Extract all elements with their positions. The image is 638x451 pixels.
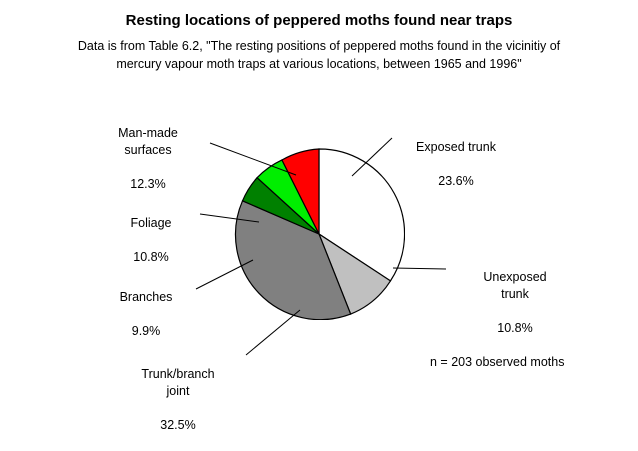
pie-label-foliage-value: 10.8% [96, 249, 206, 266]
pie-chart-area: Man-made surfaces 12.3% Foliage 10.8% Br… [0, 0, 638, 420]
pie-label-branches: Branches 9.9% [86, 272, 206, 357]
leader-line-trunk-joint [246, 310, 300, 355]
leader-line-unexposed-trunk [393, 268, 446, 269]
pie-label-exposed-trunk: Exposed trunk 23.6% [386, 122, 526, 207]
pie-label-man-made-surfaces: Man-made surfaces 12.3% [88, 108, 208, 210]
pie-label-unexposed-trunk: Unexposed trunk 10.8% [450, 252, 580, 354]
pie-label-foliage: Foliage 10.8% [96, 198, 206, 283]
pie-label-man-made-surfaces-name: Man-made surfaces [88, 125, 208, 159]
pie-label-exposed-trunk-name: Exposed trunk [386, 139, 526, 156]
pie-label-trunk-branch-joint-name: Trunk/branch joint [118, 366, 238, 400]
pie-label-man-made-surfaces-value: 12.3% [88, 176, 208, 193]
pie-label-branches-value: 9.9% [86, 323, 206, 340]
chart-page: Resting locations of peppered moths foun… [0, 0, 638, 420]
pie-label-unexposed-trunk-value: 10.8% [450, 320, 580, 337]
sample-size-annotation: n = 203 observed moths [430, 355, 564, 369]
pie-label-branches-name: Branches [86, 289, 206, 306]
pie-label-unexposed-trunk-name: Unexposed trunk [450, 269, 580, 303]
leader-line-foliage [200, 214, 259, 222]
leader-line-man-made [210, 143, 296, 175]
pie-label-trunk-branch-joint: Trunk/branch joint 32.5% [118, 349, 238, 451]
pie-label-foliage-name: Foliage [96, 215, 206, 232]
pie-label-exposed-trunk-value: 23.6% [386, 173, 526, 190]
